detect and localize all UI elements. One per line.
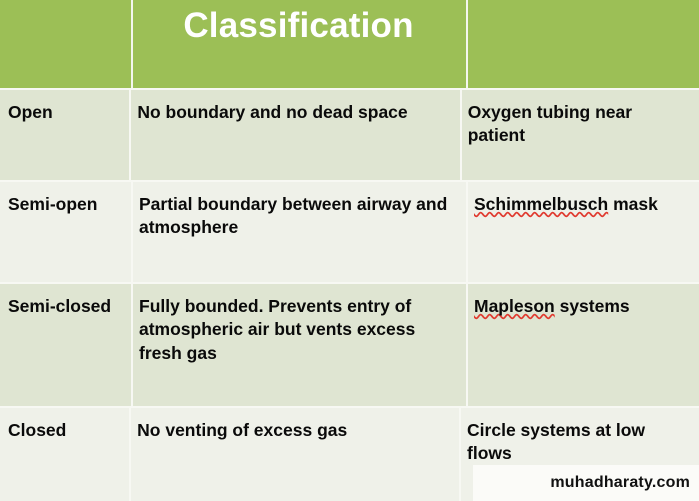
misspelled-term: Mapleson [474, 296, 555, 316]
header-cell-title: Classification [131, 0, 466, 88]
page-title: Classification [183, 6, 413, 46]
misspelled-term: Schimmelbusch [474, 194, 608, 214]
cell-system: Semi-closed [0, 284, 131, 406]
table-row: Open No boundary and no dead space Oxyge… [0, 88, 699, 180]
table-row: Semi-open Partial boundary between airwa… [0, 180, 699, 282]
cell-system: Semi-open [0, 182, 131, 282]
table-header-row: Classification [0, 0, 699, 88]
header-cell-system [0, 0, 131, 88]
example-text: mask [608, 194, 658, 214]
example-text: systems [555, 296, 630, 316]
slide-canvas: Classification Open No boundary and no d… [0, 0, 699, 501]
watermark: muhadharaty.com [473, 465, 699, 501]
cell-system: Closed [0, 408, 129, 501]
cell-system: Open [0, 90, 129, 180]
cell-description: No venting of excess gas [129, 408, 459, 501]
example-text: Circle systems at low flows [467, 420, 645, 463]
cell-example: Mapleson systems [466, 284, 699, 406]
table-row: Semi-closed Fully bounded. Prevents entr… [0, 282, 699, 406]
classification-table: Classification Open No boundary and no d… [0, 0, 699, 501]
cell-description: Partial boundary between airway and atmo… [131, 182, 466, 282]
cell-description: No boundary and no dead space [129, 90, 459, 180]
example-text: Oxygen tubing near patient [468, 102, 632, 145]
cell-description: Fully bounded. Prevents entry of atmosph… [131, 284, 466, 406]
cell-example: Schimmelbusch mask [466, 182, 699, 282]
cell-example: Oxygen tubing near patient [460, 90, 699, 180]
header-cell-example [466, 0, 699, 88]
